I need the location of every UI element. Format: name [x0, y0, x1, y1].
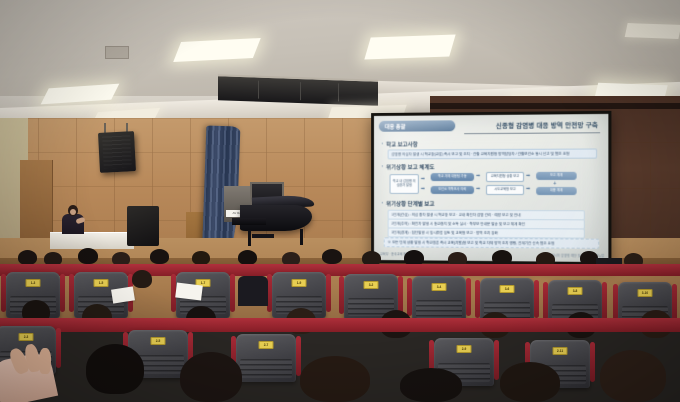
audience-head-foreground	[180, 352, 242, 402]
piano-leg	[300, 229, 303, 245]
projected-slide: 대응 총괄 신종형 감염병 대응 방역 안전망 구축 학교 보고사항 감염병 의…	[374, 114, 608, 262]
seat-number-plate: 2-3	[19, 333, 34, 341]
audience-head	[238, 250, 257, 265]
flow-arrow-icon: ➡	[421, 187, 425, 192]
slide-pill-label: 대응 총괄	[385, 123, 406, 131]
presenter-face	[70, 209, 76, 215]
flow-step-1b: 보건소 역학조사 의뢰	[431, 186, 474, 194]
seat-number-plate: 3-8	[568, 287, 583, 295]
slide-stage-note-4: ※ 모든 단계 상황 발생 시 학교장은 즉시 교육(지원)청 보고 및 학교 …	[384, 237, 599, 249]
piano-bench	[252, 234, 274, 238]
flow-output-2: 대응 체계	[536, 187, 577, 195]
presenter-table	[50, 232, 134, 249]
audience-head	[492, 250, 512, 265]
flow-step-2a: 교육지원청 상황 보고	[486, 172, 524, 182]
floor-speaker	[127, 206, 159, 246]
wall-rail	[430, 103, 680, 109]
seat[interactable]: 2-7	[236, 334, 296, 382]
audience-torso	[238, 276, 268, 306]
audience-head-foreground	[500, 362, 560, 402]
audience-head	[18, 250, 37, 265]
ceiling-speaker	[98, 131, 136, 173]
flow-arrow-icon: ➡	[526, 174, 530, 179]
seat[interactable]: 3-4	[412, 276, 466, 322]
finger	[39, 348, 52, 374]
audience-head	[78, 248, 98, 264]
flow-step-2b: 시도교육청 보고	[486, 185, 524, 195]
ceiling-light-panel	[625, 23, 680, 39]
slide-note-1: 감염병 의심자 발생 시 학교장(교감) 즉시 보고 및 조치 · 관할 교육지…	[388, 148, 597, 159]
flow-step-1a: 학교 자체 대응팀 가동	[431, 173, 474, 181]
seat-number-plate: 3-4	[432, 283, 447, 291]
audience-head-foreground	[600, 350, 666, 402]
audience-head-foreground	[300, 356, 370, 402]
seat-number-plate: 3-6	[500, 285, 515, 293]
ceiling-projector-recess	[218, 74, 378, 106]
paper-handout	[175, 282, 203, 300]
piano-leg	[248, 230, 251, 246]
seat-number-plate: 2-11	[553, 347, 568, 355]
audience-head-foreground	[400, 368, 462, 402]
slide-title: 신종형 감염병 대응 방역 안전망 구축	[464, 120, 598, 130]
audience-head	[322, 249, 342, 264]
seat-number-plate: 1-5	[94, 279, 109, 287]
flow-arrow-icon: ➡	[476, 174, 480, 179]
auditorium-photo: AV RACK 대응 총괄 신종형 감염병 대응 방역 안전망 구축 학교 보고…	[0, 0, 680, 402]
audience-head	[132, 270, 152, 288]
audience-head-foreground	[86, 344, 144, 394]
flow-source-box: 학교 내 감염병 의심환자 발생	[390, 174, 419, 194]
slide-bullet-3: 위기상황 단계별 보고	[382, 200, 435, 208]
stage-door-left	[20, 160, 53, 240]
ac-vent-grille	[105, 46, 129, 59]
seat-number-plate: 1-3	[26, 279, 41, 287]
flow-arrow-icon: ➡	[526, 187, 530, 192]
seat-number-plate: 1-9	[292, 279, 307, 287]
flow-arrow-icon: ➡	[476, 187, 480, 192]
audience-head	[192, 251, 210, 265]
seat-number-plate: 2-5	[151, 337, 166, 345]
slide-title-bar: 신종형 감염병 대응 방역 안전망 구축	[464, 120, 600, 134]
seat-number-plate: 2-7	[259, 341, 274, 349]
seat-number-plate: 2-9	[457, 345, 472, 353]
seat-number-plate: 3-2	[364, 281, 379, 289]
seat-row-rail	[0, 318, 680, 332]
slide-section-pill: 대응 총괄	[379, 120, 455, 131]
slide-bullet-1: 학교 보고사항	[382, 140, 418, 148]
slide-bullet-2: 위기상황 보고 체계도	[382, 163, 435, 171]
piano-keyboard	[232, 218, 266, 225]
seat-number-plate: 3-10	[638, 289, 653, 297]
flow-arrow-icon: ➡	[421, 177, 425, 182]
audience-head	[150, 249, 169, 264]
ceiling-light-panel	[364, 35, 455, 60]
flow-output-1: 보고 체계	[536, 172, 577, 180]
